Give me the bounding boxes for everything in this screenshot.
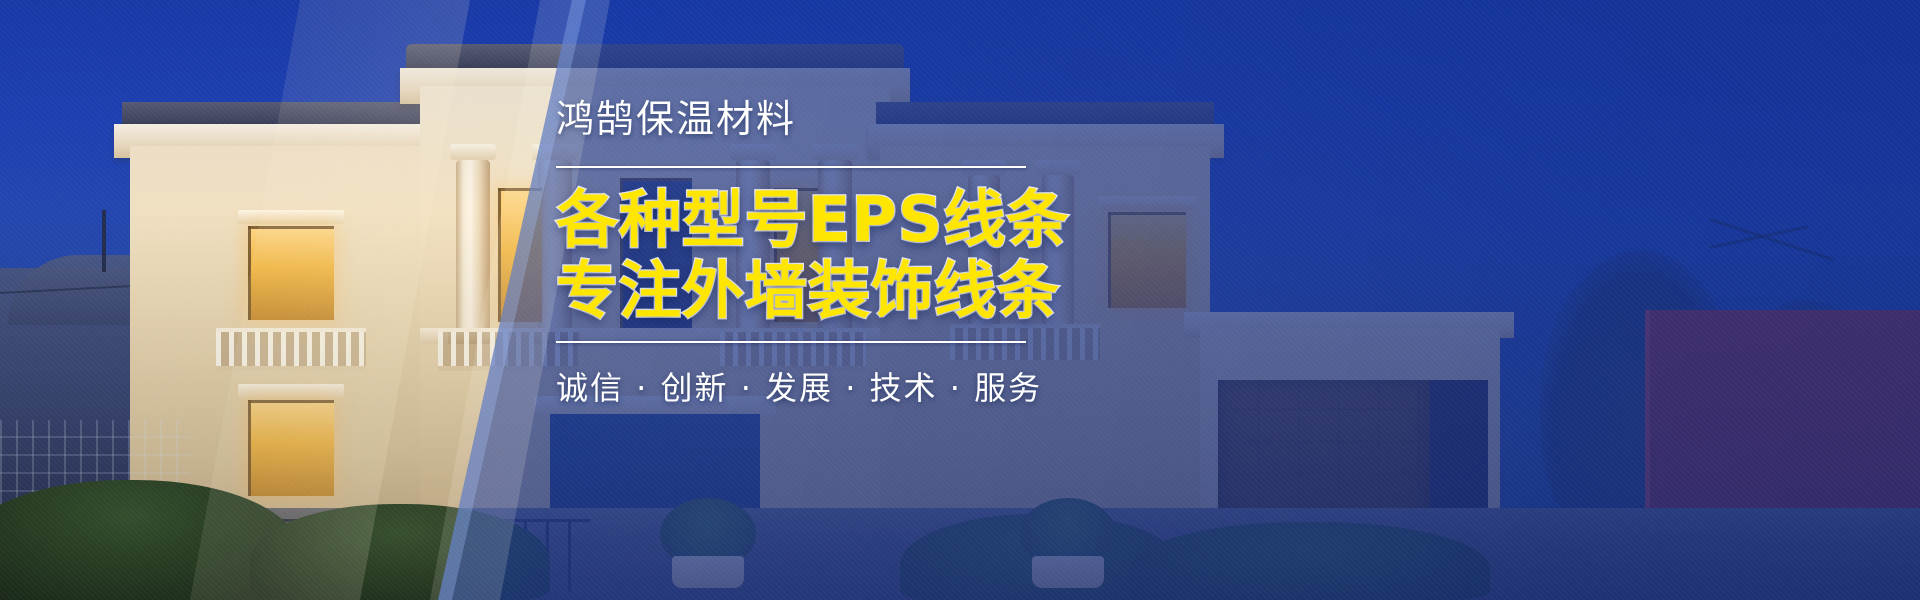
headline-line-1: 各种型号EPS线条 (556, 184, 1026, 256)
lit-window (248, 226, 334, 320)
left-wing-roof (122, 102, 432, 126)
window-header (238, 210, 344, 224)
column-capital (450, 144, 496, 160)
headline-line-2: 专注外墙装饰线条 (556, 255, 1026, 327)
tagline: 诚信 · 创新 · 发展 · 技术 · 服务 (556, 363, 1026, 409)
promotional-banner: 鸿鹄保温材料 各种型号EPS线条 专注外墙装饰线条 诚信 · 创新 · 发展 ·… (0, 0, 1920, 600)
window-header (238, 384, 344, 398)
lit-window (248, 400, 334, 496)
divider-bottom (556, 341, 1026, 343)
antenna-mast (102, 210, 106, 272)
banner-copy: 鸿鹄保温材料 各种型号EPS线条 专注外墙装饰线条 诚信 · 创新 · 发展 ·… (556, 96, 1026, 409)
brand-name: 鸿鹄保温材料 (556, 96, 1026, 144)
portico-column (456, 160, 490, 332)
divider-top (556, 166, 1026, 168)
balustrade (216, 328, 366, 371)
